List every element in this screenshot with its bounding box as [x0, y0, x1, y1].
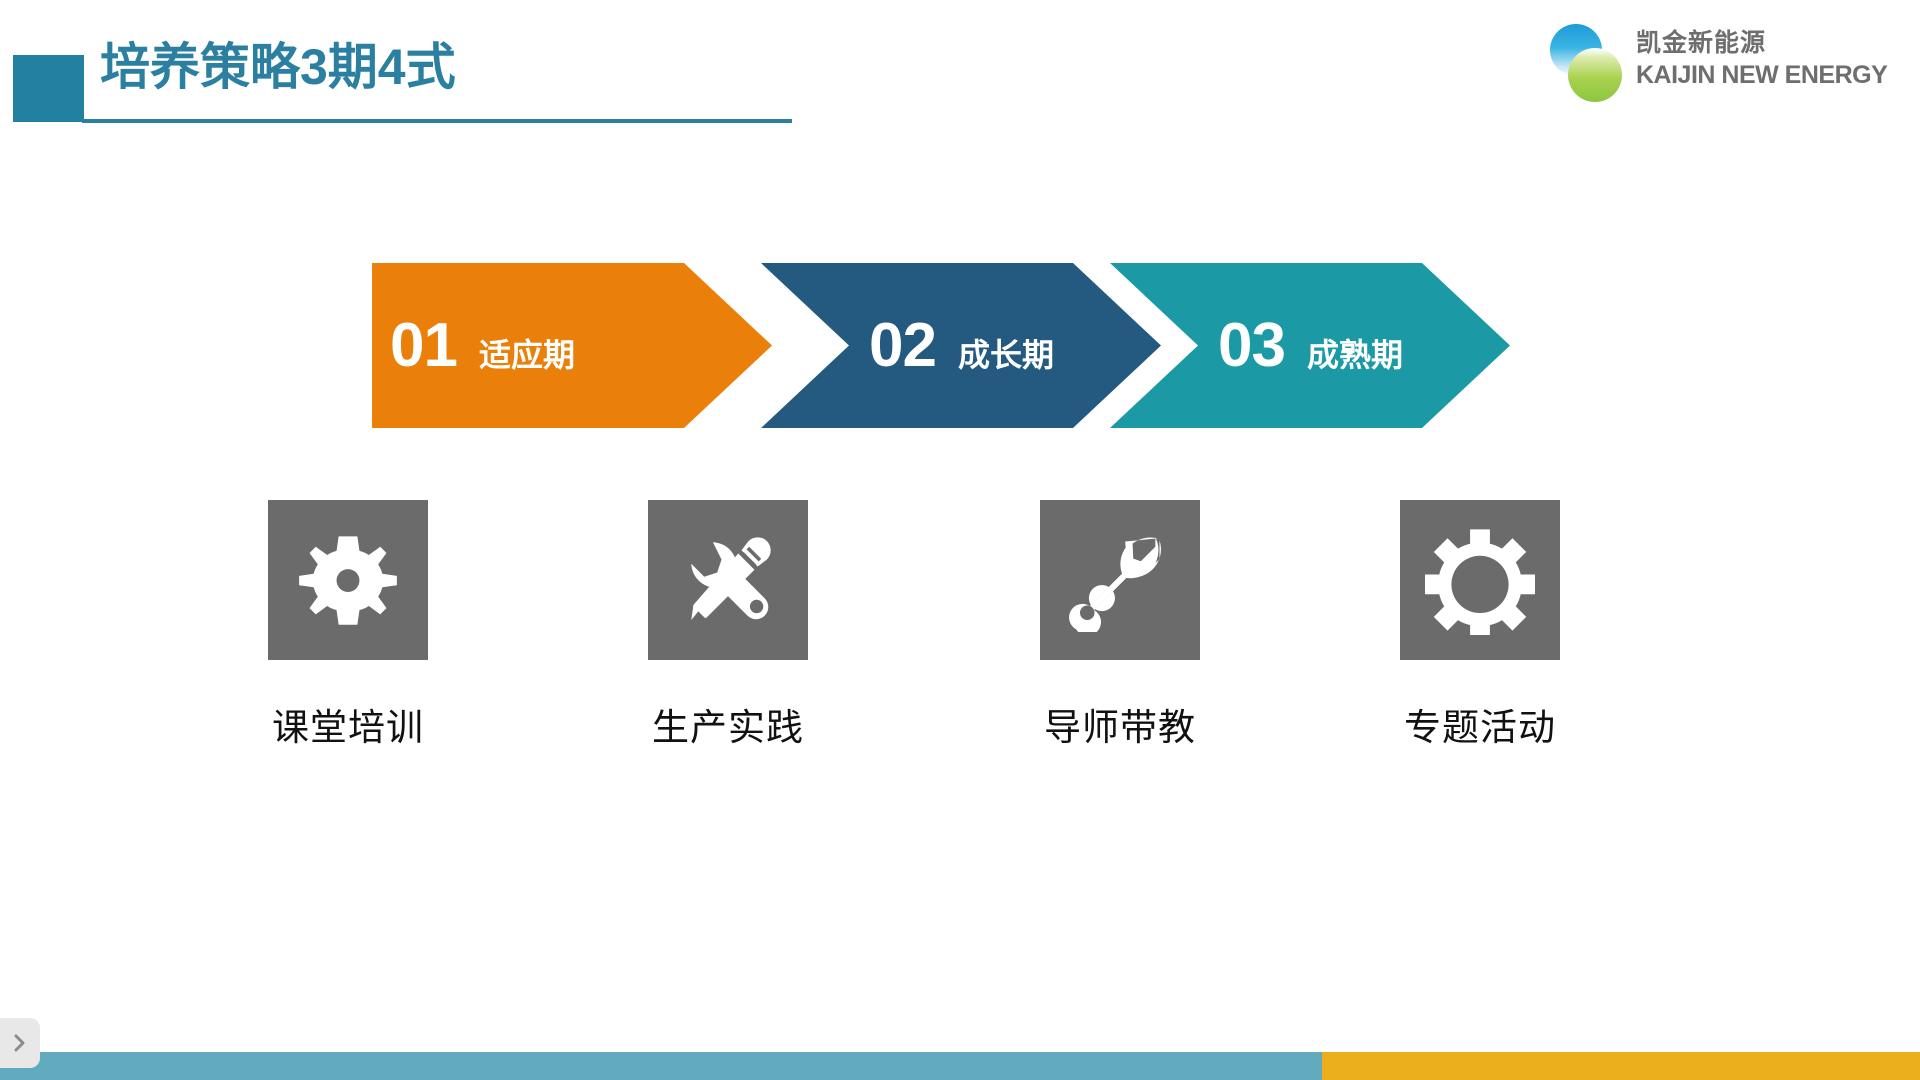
title-underline [82, 119, 792, 123]
method-card-mentoring: 导师带教 [1040, 500, 1200, 751]
slide-canvas: 培养策略3期4式 凯金新能源 KAIJIN NEW ENERGY 01 适应期 … [0, 0, 1920, 1080]
method-card-row: 课堂培训 生产实践 [0, 500, 1920, 700]
method-card-label: 课堂培训 [268, 697, 428, 751]
footer-bar-left [0, 1052, 1322, 1080]
process-step-02: 02 成长期 [761, 263, 1161, 428]
gear-ring-icon [1400, 500, 1560, 660]
method-card-label: 专题活动 [1400, 697, 1560, 751]
logo-name-en: KAIJIN NEW ENERGY [1636, 60, 1887, 90]
process-step-number: 01 [390, 315, 457, 377]
logo-wordmark: 凯金新能源 KAIJIN NEW ENERGY [1636, 28, 1887, 90]
next-slide-button[interactable] [0, 1018, 40, 1068]
method-card-special-activity: 专题活动 [1400, 500, 1560, 751]
logo-mark-icon [1548, 24, 1628, 102]
gear-icon [268, 500, 428, 660]
title-accent-square [13, 55, 84, 122]
method-card-classroom-training: 课堂培训 [268, 500, 428, 751]
method-card-label: 导师带教 [1040, 697, 1200, 751]
page-title: 培养策略3期4式 [100, 36, 456, 99]
process-step-number: 03 [1218, 315, 1285, 377]
method-card-label: 生产实践 [648, 697, 808, 751]
chevron-right-icon [12, 1033, 28, 1053]
process-step-number: 02 [869, 315, 936, 377]
process-chevron-row: 01 适应期 02 成长期 03 成熟期 [0, 263, 1920, 428]
process-step-label: 成长期 [958, 339, 1054, 371]
process-step-01: 01 适应期 [372, 263, 772, 428]
method-card-production-practice: 生产实践 [648, 500, 808, 751]
logo-name-cn: 凯金新能源 [1636, 28, 1887, 58]
wrench-screwdriver-icon [648, 500, 808, 660]
process-step-03: 03 成熟期 [1110, 263, 1510, 428]
process-step-label: 成熟期 [1307, 339, 1403, 371]
wrench-icon [1040, 500, 1200, 660]
footer-bar-right [1322, 1052, 1920, 1080]
company-logo: 凯金新能源 KAIJIN NEW ENERGY [1548, 22, 1898, 104]
logo-circle-green [1568, 48, 1622, 102]
process-step-label: 适应期 [479, 339, 575, 371]
